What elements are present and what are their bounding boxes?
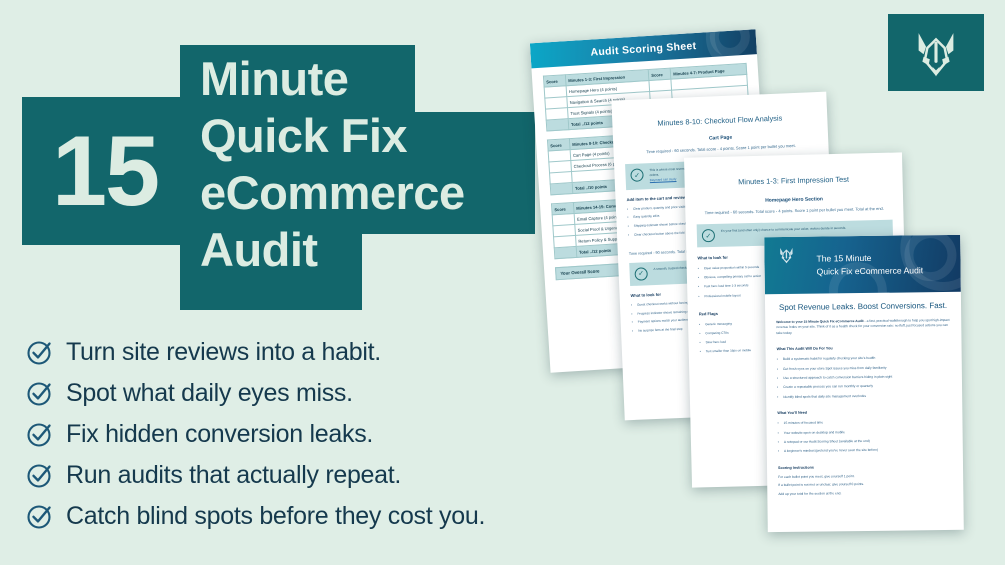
check-circle-icon: ✓ <box>702 229 715 242</box>
cover-section-2-list: 15 minutes of focused time Your website … <box>777 419 951 455</box>
doc-header: The 15 Minute Quick Fix eCommerce Audit <box>764 235 961 294</box>
check-circle-icon: ✓ <box>630 168 644 182</box>
cover-section-1-list: Build a systematic habit for regularly c… <box>777 355 952 400</box>
list-item: 15 minutes of focused time <box>777 419 951 427</box>
cover-intro-bold: Welcome to your 15 Minute Quick Fix eCom… <box>776 319 863 324</box>
check-circle-icon <box>26 338 54 366</box>
list-item: Get fresh eyes on your store Spot issues… <box>777 365 951 373</box>
doc-body: Welcome to your 15 Minute Quick Fix eCom… <box>765 318 963 497</box>
page-title: Minute Quick Fix eCommerce Audit <box>200 50 545 278</box>
callout-link[interactable]: Baymard cart study <box>650 177 677 182</box>
benefit-list: Turn site reviews into a habit. Spot wha… <box>26 332 646 537</box>
title-line-2: Quick Fix <box>200 107 545 164</box>
cover-tagline: Spot Revenue Leaks. Boost Conversions. F… <box>765 292 961 320</box>
check-circle-icon <box>26 379 54 407</box>
title-line-1: Minute <box>200 50 545 107</box>
check-circle-icon <box>26 461 54 489</box>
cover-section-1-title: What This Audit Will Do For You <box>777 345 951 351</box>
doc-meta: Time required - 60 seconds. Total score … <box>696 206 892 217</box>
cell-score <box>550 183 573 195</box>
list-item: Fix hidden conversion leaks. <box>26 414 646 454</box>
scoring-line: If a bullet point is not met or unclear,… <box>778 481 952 489</box>
list-item: A beginner's mindset (pretend you've nev… <box>778 447 952 455</box>
scoring-line: Add up your total for the section at the… <box>778 490 952 498</box>
list-item-label: Spot what daily eyes miss. <box>66 378 353 408</box>
cell-score <box>546 119 569 131</box>
doc-header-title: Audit Scoring Sheet <box>590 39 697 58</box>
list-item: Use a structured approach to catch conve… <box>777 374 951 382</box>
cell-score <box>554 246 577 258</box>
cover-intro: Welcome to your 15 Minute Quick Fix eCom… <box>776 318 950 336</box>
cover-section-2-title: What You'll Need <box>777 409 951 415</box>
wolf-head-icon <box>905 22 967 84</box>
list-item-label: Catch blind spots before they cost you. <box>66 501 485 531</box>
list-item: Turn site reviews into a habit. <box>26 332 646 372</box>
callout-text: It's your first (and often only) chance … <box>721 226 847 234</box>
list-item: Identify blind spots that daily site man… <box>777 393 951 401</box>
check-circle-icon: ✓ <box>634 267 648 281</box>
title-line-4: Audit <box>200 221 545 278</box>
brand-logo <box>888 14 984 91</box>
check-circle-icon <box>26 420 54 448</box>
poster-canvas: 15 Minute Quick Fix eCommerce Audit Turn… <box>0 0 1005 565</box>
list-item: Spot what daily eyes miss. <box>26 373 646 413</box>
list-item-label: Fix hidden conversion leaks. <box>66 419 373 449</box>
list-item-label: Turn site reviews into a habit. <box>66 337 381 367</box>
document-cover[interactable]: The 15 Minute Quick Fix eCommerce Audit … <box>764 235 964 532</box>
title-line-3: eCommerce <box>200 164 545 221</box>
list-item: Catch blind spots before they cost you. <box>26 496 646 536</box>
title-number: 15 <box>30 100 180 242</box>
cover-section-3-title: Scoring Instructions <box>778 464 952 470</box>
list-item: Run audits that actually repeat. <box>26 455 646 495</box>
doc-title: Minutes 1-3: First Impression Test <box>696 174 892 188</box>
cover-section-3-lines: For each bullet point you meet, give you… <box>778 473 952 497</box>
doc-section-title: Homepage Hero Section <box>696 195 892 206</box>
wolf-head-icon <box>773 244 799 266</box>
list-item: Build a systematic habit for regularly c… <box>777 355 951 363</box>
list-item-label: Run audits that actually repeat. <box>66 460 401 490</box>
doc-title: Minutes 8-10: Checkout Flow Analysis <box>623 112 816 129</box>
list-item: Your website open on desktop and mobile <box>778 429 952 437</box>
check-circle-icon <box>26 502 54 530</box>
list-item: Create a repeatable process you can run … <box>777 383 951 391</box>
list-item: A notepad or our Audit Scoring Sheet (av… <box>778 438 952 446</box>
doc-meta: Time required - 60 seconds. Total score … <box>624 142 817 156</box>
scoring-line: For each bullet point you meet, give you… <box>778 473 952 481</box>
